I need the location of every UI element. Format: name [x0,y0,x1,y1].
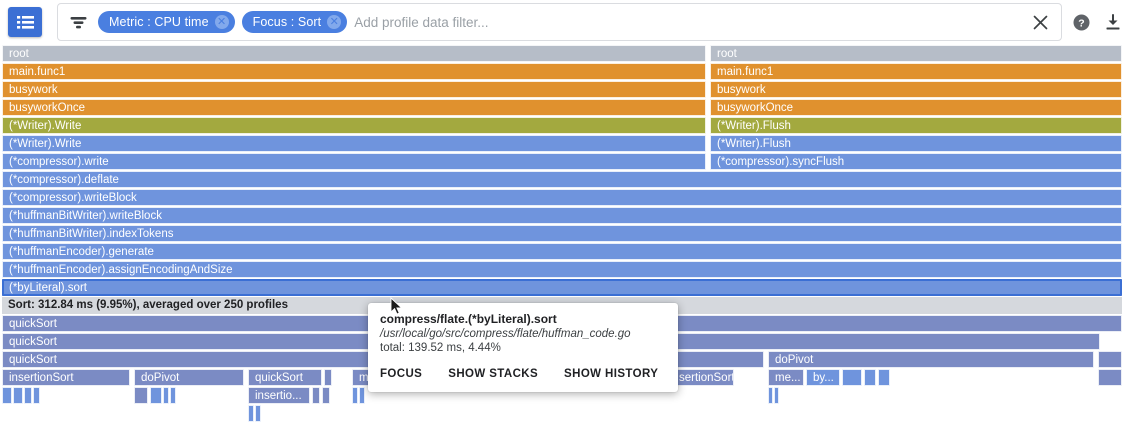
svg-text:?: ? [1078,17,1084,29]
chip-focus[interactable]: Focus : Sort ✕ [242,11,348,33]
flame-frame-label: (*compressor).write [9,156,109,168]
flame-frame[interactable]: (*Writer).Write [2,117,706,134]
tooltip-file-path: /usr/local/go/src/compress/flate/huffman… [368,328,678,342]
flame-frame[interactable] [255,405,261,422]
flame-frame-label: (*compressor).deflate [9,174,119,186]
flame-frame[interactable] [864,369,876,386]
flame-frame[interactable]: busywork [2,81,706,98]
flame-frame-label: sertionSort [679,372,734,384]
flame-frame[interactable]: (*compressor).writeBlock [2,189,1122,206]
flame-frame-label: busyworkOnce [717,102,793,114]
flame-frame[interactable] [24,387,32,404]
flame-frame[interactable]: by... [806,369,840,386]
download-icon [1105,14,1121,31]
close-icon [1033,15,1048,30]
chip-focus-label: Focus : Sort [253,15,322,29]
flame-frame[interactable]: main.func1 [2,63,706,80]
focus-button[interactable]: FOCUS [380,368,422,380]
clear-filters-button[interactable] [1019,4,1061,40]
flame-frame-label: doPivot [141,372,179,384]
flame-frame[interactable]: (*Writer).Flush [710,135,1122,152]
flame-frame[interactable]: main.func1 [710,63,1122,80]
flame-frame[interactable] [2,387,12,404]
flame-frame-label: main.func1 [717,66,773,78]
list-menu-icon [17,15,34,30]
flame-frame-label: doPivot [775,354,813,366]
flame-frame[interactable]: sertionSort [672,369,734,386]
filter-input[interactable] [354,15,1019,30]
flame-frame-label: root [9,48,29,60]
flame-frame-label: (*huffmanBitWriter).writeBlock [9,210,162,222]
flame-frame[interactable] [150,387,162,404]
flame-frame[interactable]: quickSort [248,369,322,386]
flame-frame[interactable] [312,387,320,404]
flame-frame-label: (*Writer).Write [9,120,81,132]
chip-focus-remove-icon[interactable]: ✕ [327,15,341,29]
flame-frame[interactable] [134,387,148,404]
flame-frame[interactable]: (*huffmanBitWriter).writeBlock [2,207,1122,224]
flame-frame-label: quickSort [9,354,57,366]
show-history-button[interactable]: SHOW HISTORY [564,368,658,380]
flame-frame-label: root [717,48,737,60]
flame-frame[interactable]: doPivot [134,369,244,386]
flame-frame[interactable]: (*compressor).syncFlush [710,153,1122,170]
filter-funnel-icon [70,15,87,30]
flame-frame[interactable]: insertio... [248,387,310,404]
flame-frame[interactable] [842,369,862,386]
flame-frame[interactable] [352,387,358,404]
flame-frame-label: busyworkOnce [9,102,85,114]
flame-frame[interactable] [248,405,254,422]
mouse-cursor-icon [390,297,403,316]
flame-frame-label: (*compressor).writeBlock [9,192,137,204]
show-stacks-button[interactable]: SHOW STACKS [448,368,538,380]
flame-frame[interactable] [774,387,779,404]
flame-frame-label: insertionSort [9,372,74,384]
menu-button[interactable] [8,7,42,37]
flame-frame[interactable] [878,369,890,386]
chip-metric-remove-icon[interactable]: ✕ [215,15,229,29]
flame-frame[interactable]: (*huffmanBitWriter).indexTokens [2,225,1122,242]
flame-frame[interactable]: busywork [710,81,1122,98]
filter-button[interactable] [58,4,98,40]
tooltip-total: total: 139.52 ms, 4.44% [368,342,678,364]
flame-frame[interactable]: (*huffmanEncoder).assignEncodingAndSize [2,261,1122,278]
flame-frame[interactable] [170,387,176,404]
flame-frame[interactable] [324,369,332,386]
profiler-flamegraph-page: Metric : CPU time ✕ Focus : Sort ✕ ? [0,0,1135,433]
flame-frame[interactable]: (*Writer).Write [2,135,706,152]
flame-frame[interactable]: insertionSort [2,369,130,386]
flame-frame-label: busywork [717,84,766,96]
flame-frame-label: (*huffmanEncoder).generate [9,246,154,258]
flame-frame-label: (*Writer).Flush [717,120,791,132]
tooltip-function-name: compress/flate.(*byLiteral).sort [368,312,678,328]
help-circle-icon: ? [1073,14,1090,31]
frame-tooltip: compress/flate.(*byLiteral).sort /usr/lo… [368,303,678,392]
flame-frame[interactable]: (*huffmanEncoder).generate [2,243,1122,260]
flame-frame[interactable]: busyworkOnce [2,99,706,116]
flame-frame[interactable]: doPivot [768,351,1094,368]
flame-frame-label: (*huffmanEncoder).assignEncodingAndSize [9,264,233,276]
toolbar: Metric : CPU time ✕ Focus : Sort ✕ ? [0,0,1135,44]
help-button[interactable]: ? [1068,9,1094,35]
flame-frame[interactable] [768,387,773,404]
filter-bar: Metric : CPU time ✕ Focus : Sort ✕ [57,3,1062,41]
flame-frame[interactable]: busyworkOnce [710,99,1122,116]
flame-frame[interactable] [359,387,365,404]
flame-frame[interactable] [163,387,169,404]
flame-frame-label: (*compressor).syncFlush [717,156,844,168]
flame-frame[interactable]: root [710,45,1122,62]
tooltip-actions: FOCUS SHOW STACKS SHOW HISTORY [368,364,678,392]
flame-frame[interactable] [1098,351,1122,368]
flame-frame-label: quickSort [255,372,303,384]
flame-frame-label: (*byLiteral).sort [9,282,87,294]
flame-frame[interactable]: (*Writer).Flush [710,117,1122,134]
flame-frame-label: quickSort [9,318,57,330]
flame-frame-label: by... [813,372,834,384]
flame-frame-label: (*Writer).Write [9,138,81,150]
flame-frame[interactable] [1098,369,1122,386]
flame-frame[interactable] [13,387,23,404]
flame-frame-label: (*huffmanBitWriter).indexTokens [9,228,173,240]
flame-frame-label: me... [775,372,801,384]
flame-frame-label: main.func1 [9,66,65,78]
flame-frame[interactable]: (*compressor).deflate [2,171,1122,188]
chip-metric-label: Metric : CPU time [109,15,209,29]
flame-frame-label: (*Writer).Flush [717,138,791,150]
chip-metric[interactable]: Metric : CPU time ✕ [98,11,235,33]
flame-frame[interactable] [33,387,40,404]
download-button[interactable] [1100,9,1126,35]
flame-frame-label: insertio... [255,390,302,402]
flame-frame-label: busywork [9,84,58,96]
flame-frame[interactable]: root [2,45,706,62]
flame-frame[interactable]: (*byLiteral).sort [2,279,1122,296]
flame-frame[interactable]: (*compressor).write [2,153,706,170]
flame-frame[interactable]: me... [768,369,804,386]
flame-frame[interactable] [322,387,330,404]
flame-frame-label: quickSort [9,336,57,348]
